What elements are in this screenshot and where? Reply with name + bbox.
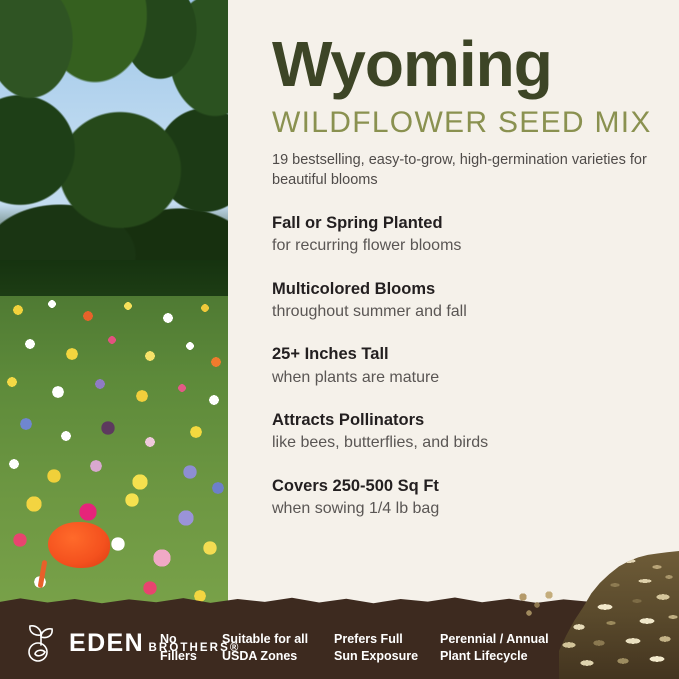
product-description: 19 bestselling, easy-to-grow, high-germi…	[272, 150, 657, 191]
feature-body: when plants are mature	[272, 368, 657, 389]
feature-heading: 25+ Inches Tall	[272, 344, 657, 365]
product-infographic: Wyoming WILDFLOWER SEED MIX 19 bestselli…	[0, 0, 679, 679]
seedling-icon	[22, 623, 60, 663]
feature-body: like bees, butterflies, and birds	[272, 433, 657, 454]
feature-heading: Attracts Pollinators	[272, 410, 657, 431]
page-title: Wyoming	[272, 0, 657, 96]
feature-heading: Covers 250-500 Sq Ft	[272, 476, 657, 497]
feature-item: Multicolored Blooms throughout summer an…	[272, 279, 657, 323]
footer-label-line-2: USDA Zones	[222, 648, 308, 665]
feature-heading: Fall or Spring Planted	[272, 213, 657, 234]
feature-body: for recurring flower blooms	[272, 236, 657, 257]
footer-label-line-1: Prefers Full	[334, 631, 418, 648]
brand-line-1: EDEN	[69, 629, 144, 657]
feature-body: throughout summer and fall	[272, 302, 657, 323]
footer-label-plant-lifecycle: Perennial / Annual Plant Lifecycle	[440, 631, 549, 666]
footer-label-no-fillers: No Fillers	[160, 631, 197, 666]
feature-body: when sowing 1/4 lb bag	[272, 499, 657, 520]
footer-label-line-2: Fillers	[160, 648, 197, 665]
brand-wordmark: EDEN BROTHERS®	[69, 631, 240, 656]
footer-label-sun-exposure: Prefers Full Sun Exposure	[334, 631, 418, 666]
feature-heading: Multicolored Blooms	[272, 279, 657, 300]
wildflower-meadow-photo	[0, 0, 228, 679]
footer-label-line-1: Suitable for all	[222, 631, 308, 648]
feature-item: 25+ Inches Tall when plants are mature	[272, 344, 657, 388]
treeline	[0, 0, 228, 330]
feature-item: Covers 250-500 Sq Ft when sowing 1/4 lb …	[272, 476, 657, 520]
footer-label-line-1: No	[160, 631, 197, 648]
feature-item: Fall or Spring Planted for recurring flo…	[272, 213, 657, 257]
feature-item: Attracts Pollinators like bees, butterfl…	[272, 410, 657, 454]
eden-brothers-logo: EDEN BROTHERS®	[22, 623, 240, 663]
footer-label-line-2: Sun Exposure	[334, 648, 418, 665]
wildflower-blooms	[0, 296, 228, 626]
footer-label-usda-zones: Suitable for all USDA Zones	[222, 631, 308, 666]
product-subtitle: WILDFLOWER SEED MIX	[272, 106, 657, 141]
footer-label-line-1: Perennial / Annual	[440, 631, 549, 648]
footer-label-line-2: Plant Lifecycle	[440, 648, 549, 665]
scattered-seeds	[513, 589, 559, 619]
orange-poppy	[48, 522, 110, 568]
